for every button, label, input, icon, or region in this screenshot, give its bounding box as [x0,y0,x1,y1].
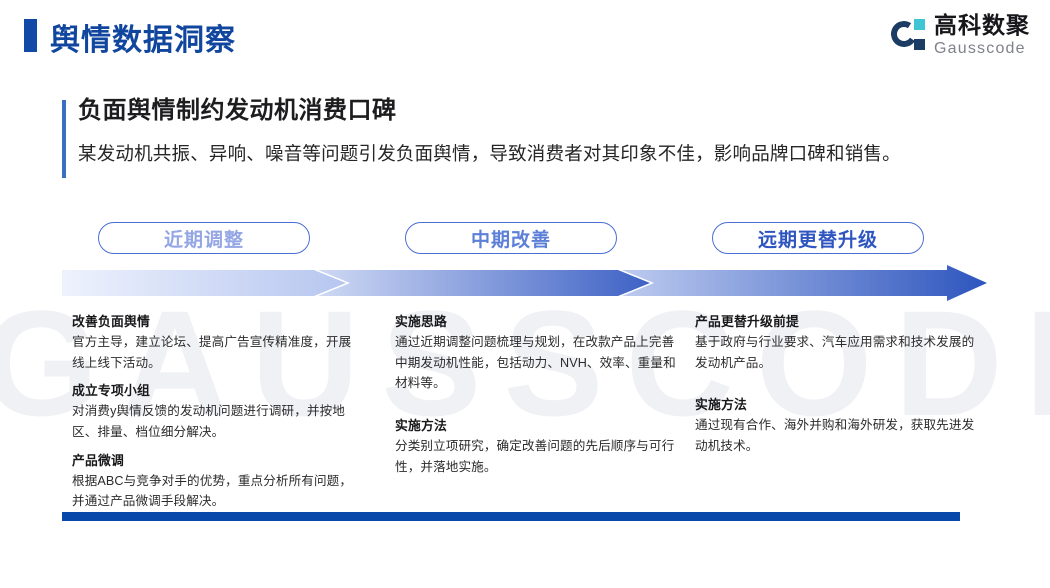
detail-block-body: 根据ABC与竞争对手的优势，重点分析所有问题，并通过产品微调手段解决。 [72,471,357,513]
header-bullet-icon [24,19,37,52]
detail-block: 实施思路 通过近期调整问题梳理与规划，在改款产品上完善中期发动机性能，包括动力、… [395,312,680,394]
brand-logo: 高科数聚 Gausscode [891,14,1030,57]
gausscode-logo-icon [891,19,925,53]
detail-block-body: 分类别立项研究，确定改善问题的先后顺序与可行性，并落地实施。 [395,436,680,478]
detail-block-body: 基于政府与行业要求、汽车应用需求和技术发展的发动机产品。 [695,332,980,374]
phase-column-mid-term: 实施思路 通过近期调整问题梳理与规划，在改款产品上完善中期发动机性能，包括动力、… [395,312,680,485]
detail-block: 成立专项小组 对消费y舆情反馈的发动机问题进行调研，并按地区、排量、档位细分解决… [72,381,357,442]
detail-block-body: 通过近期调整问题梳理与规划，在改款产品上完善中期发动机性能，包括动力、NVH、效… [395,332,680,394]
slide-header: 舆情数据洞察 高科数聚 Gausscode [0,0,1050,72]
detail-block-title: 改善负面舆情 [72,312,357,332]
detail-block-title: 产品更替升级前提 [695,312,980,332]
detail-block: 产品微调 根据ABC与竞争对手的优势，重点分析所有问题，并通过产品微调手段解决。 [72,451,357,512]
timeline-arrow-graphic [62,263,987,303]
phase-column-long-term: 产品更替升级前提 基于政府与行业要求、汽车应用需求和技术发展的发动机产品。 实施… [695,312,980,465]
phase-pill-long-term[interactable]: 远期更替升级 [712,222,924,254]
detail-block-title: 实施方法 [395,416,680,436]
intro-heading: 负面舆情制约发动机消费口碑 [78,96,992,126]
detail-block-body: 对消费y舆情反馈的发动机问题进行调研，并按地区、排量、档位细分解决。 [72,401,357,443]
logo-square-navy-icon [914,39,925,50]
intro-subtitle: 某发动机共振、异响、噪音等问题引发负面舆情，导致消费者对其印象不佳，影响品牌口碑… [78,141,992,167]
detail-block: 实施方法 通过现有合作、海外并购和海外研发，获取先进发动机技术。 [695,395,980,456]
detail-block: 产品更替升级前提 基于政府与行业要求、汽车应用需求和技术发展的发动机产品。 [695,312,980,373]
phase-pill-row: 近期调整 中期改善 远期更替升级 [0,222,1050,260]
intro-block: 负面舆情制约发动机消费口碑 某发动机共振、异响、噪音等问题引发负面舆情，导致消费… [62,96,992,167]
slide-canvas: GAUSSCODE 舆情数据洞察 高科数聚 Gausscode 负面舆情制约发动… [0,0,1050,588]
phase-pill-near-term[interactable]: 近期调整 [98,222,310,254]
detail-block-title: 实施方法 [695,395,980,415]
detail-block: 实施方法 分类别立项研究，确定改善问题的先后顺序与可行性，并落地实施。 [395,416,680,477]
detail-block-title: 产品微调 [72,451,357,471]
logo-square-teal-icon [914,19,925,30]
timeline-arrow [62,263,987,303]
detail-block-body: 通过现有合作、海外并购和海外研发，获取先进发动机技术。 [695,415,980,457]
detail-block: 改善负面舆情 官方主导，建立论坛、提高广告宣传精准度，开展线上线下活动。 [72,312,357,373]
page-title: 舆情数据洞察 [50,15,236,59]
intro-accent-rule [62,100,66,178]
brand-name-en: Gausscode [934,41,1030,57]
detail-block-body: 官方主导，建立论坛、提高广告宣传精准度，开展线上线下活动。 [72,332,357,374]
brand-name-cn: 高科数聚 [934,14,1030,37]
phase-pill-mid-term[interactable]: 中期改善 [405,222,617,254]
detail-block-title: 实施思路 [395,312,680,332]
phase-column-near-term: 改善负面舆情 官方主导，建立论坛、提高广告宣传精准度，开展线上线下活动。 成立专… [72,312,357,520]
detail-block-title: 成立专项小组 [72,381,357,401]
footer-bar [62,512,960,521]
brand-logo-text: 高科数聚 Gausscode [934,14,1030,57]
